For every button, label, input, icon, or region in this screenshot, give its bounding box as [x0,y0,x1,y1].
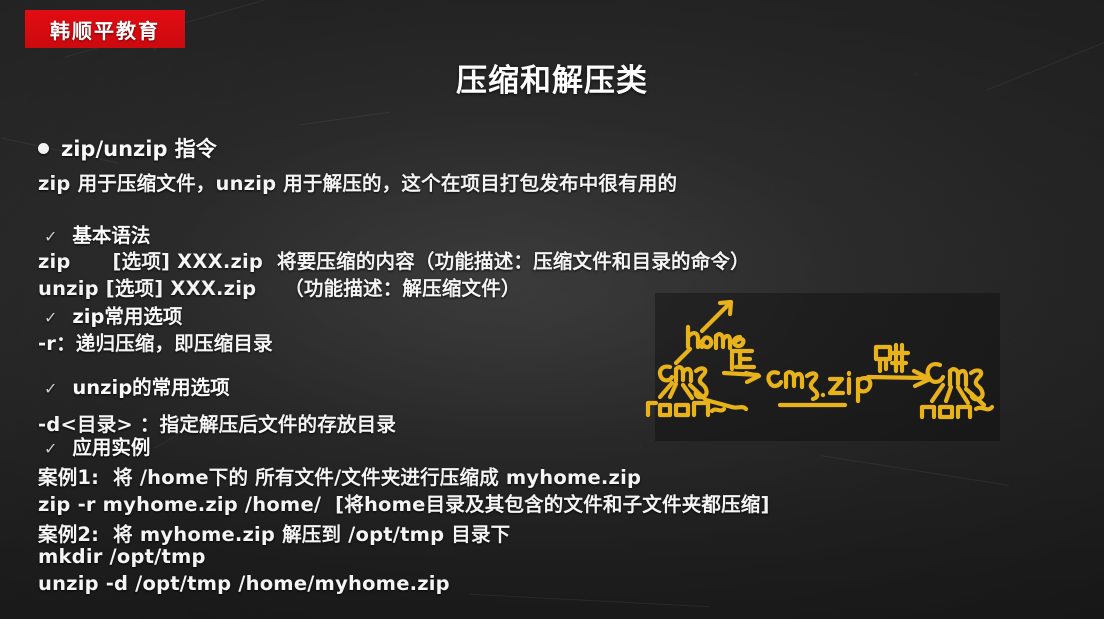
intro-text: zip 用于压缩文件，unzip 用于解压的，这个在项目打包发布中很有用的 [38,167,677,196]
syntax-line-zip: zip [选项] XXX.zip 将要压缩的内容（功能描述：压缩文件和目录的命令… [38,245,750,274]
section-heading-label: 基本语法 [72,219,150,248]
check-mark-icon: ✓ [44,441,57,457]
section-heading-examples: ✓ 应用实例 [44,431,150,460]
option-line-r: -r：递归压缩，即压缩目录 [38,327,273,356]
section-heading-basic-syntax: ✓ 基本语法 [44,219,150,248]
filled-circle-bullet-icon [38,143,49,154]
section-heading-label: 应用实例 [72,431,150,460]
section-heading-unzip-options: ✓ unzip的常用选项 [44,371,230,400]
check-mark-icon: ✓ [44,381,57,397]
example-1-command: zip -r myhome.zip /home/ [将home目录及其包含的文件… [38,488,770,517]
slide-canvas: 韩顺平教育 压缩和解压类 zip/unzip 指令 zip 用于压缩文件，unz… [0,0,1104,619]
check-mark-icon: ✓ [44,310,57,326]
example-2-title: 案例2: 将 myhome.zip 解压到 /opt/tmp 目录下 [38,518,510,547]
section-heading-label: unzip的常用选项 [72,371,229,400]
example-2-command-mkdir: mkdir /opt/tmp [38,545,206,568]
topic-bullet-label: zip/unzip 指令 [61,133,217,163]
example-1-title: 案例1: 将 /home下的 所有文件/文件夹进行压缩成 myhome.zip [38,461,641,490]
example-2-command-unzip: unzip -d /opt/tmp /home/myhome.zip [38,572,450,595]
handwritten-annotation [640,285,1020,450]
topic-bullet: zip/unzip 指令 [38,133,217,163]
syntax-line-unzip: unzip [选项] XXX.zip （功能描述：解压缩文件） [38,272,521,301]
check-mark-icon: ✓ [44,229,57,245]
section-heading-label: zip常用选项 [72,300,182,329]
section-heading-zip-options: ✓ zip常用选项 [44,300,182,329]
